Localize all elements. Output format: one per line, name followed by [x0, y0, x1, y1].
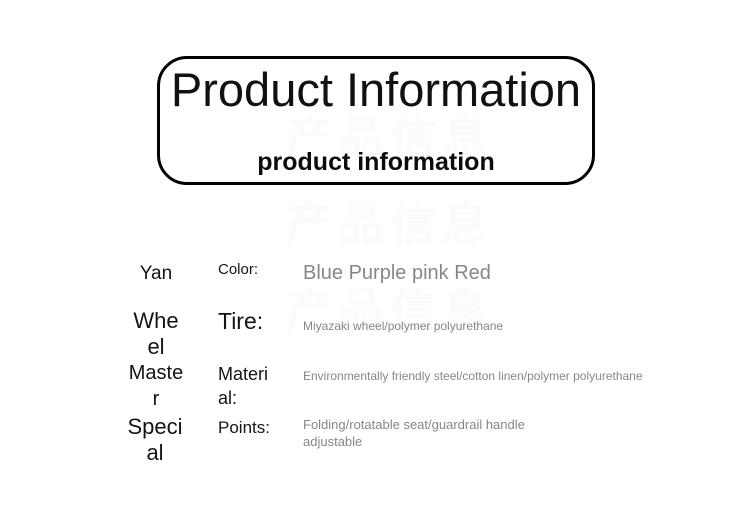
row-field-value: Blue Purple pink Red — [303, 260, 733, 286]
row-group-label: Yan — [128, 261, 184, 286]
row-group-label: Wheel — [128, 308, 184, 360]
page-title: Product Information — [157, 59, 595, 121]
row-field-label: Color: — [218, 260, 274, 280]
row-field-value: Miyazaki wheel/polymer polyurethane — [303, 318, 733, 334]
row-group-label: Special — [124, 414, 186, 466]
row-group-label: Master — [128, 360, 184, 412]
product-information-page: 产品信息 产品信息 产品信息 Product Information produ… — [0, 0, 749, 506]
row-field-label: Tire: — [218, 307, 274, 336]
page-subtitle: product information — [157, 146, 595, 178]
row-field-label: Material: — [218, 362, 274, 410]
row-field-value: Folding/rotatable seat/guardrail handle … — [303, 416, 573, 450]
row-field-value: Environmentally friendly steel/cotton li… — [303, 368, 733, 384]
row-field-label: Points: — [218, 416, 274, 439]
